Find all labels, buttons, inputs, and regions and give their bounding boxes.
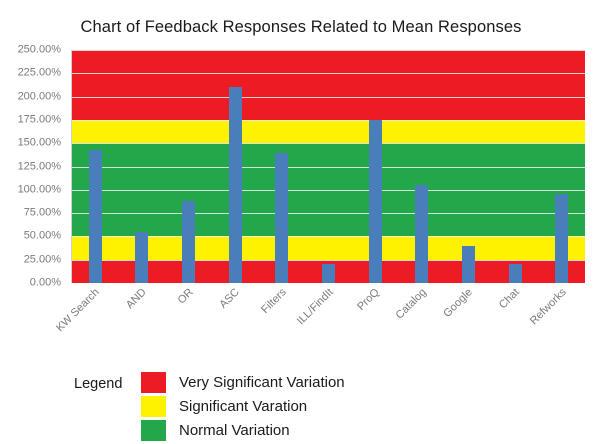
y-axis-tick-label: 125.00% xyxy=(18,161,61,172)
y-axis-tick-label: 75.00% xyxy=(24,208,61,219)
legend-item: Very Significant Variation xyxy=(141,371,345,393)
bar xyxy=(322,264,335,283)
gridline xyxy=(72,73,585,74)
y-axis-tick-label: 250.00% xyxy=(18,45,61,56)
y-axis-tick-label: 25.00% xyxy=(24,254,61,265)
bar xyxy=(462,246,475,283)
x-axis-tick-label: KW Search xyxy=(24,287,102,365)
gridline xyxy=(72,120,585,121)
plot-area xyxy=(71,50,585,283)
y-axis-tick-label: 150.00% xyxy=(18,138,61,149)
bar xyxy=(275,153,288,283)
chart-container: Chart of Feedback Responses Related to M… xyxy=(0,0,602,444)
legend-item-label: Significant Varation xyxy=(179,398,307,415)
legend-color-swatch xyxy=(141,396,166,417)
legend-title: Legend xyxy=(74,376,122,392)
gridline xyxy=(72,213,585,214)
chart-title: Chart of Feedback Responses Related to M… xyxy=(0,18,602,37)
bar xyxy=(89,150,102,283)
legend-item: Normal Variation xyxy=(141,419,290,441)
background-band xyxy=(72,50,585,120)
gridline xyxy=(72,50,585,51)
legend-item-label: Normal Variation xyxy=(179,422,290,439)
gridline xyxy=(72,236,585,237)
bar xyxy=(229,87,242,283)
y-axis-tick-label: 100.00% xyxy=(18,184,61,195)
gridline xyxy=(72,260,585,261)
legend-item: Significant Varation xyxy=(141,395,307,417)
bar xyxy=(509,264,522,283)
bar xyxy=(369,120,382,283)
gridline xyxy=(72,97,585,98)
x-axis: KW SearchANDORASCFiltersILL/FindItProQCa… xyxy=(71,285,584,353)
legend-color-swatch xyxy=(141,420,166,441)
gridline xyxy=(72,190,585,191)
chart-legend: Legend Very Significant VariationSignifi… xyxy=(0,363,602,441)
y-axis-tick-label: 50.00% xyxy=(24,231,61,242)
y-axis-tick-label: 175.00% xyxy=(18,114,61,125)
gridline xyxy=(72,167,585,168)
y-axis-tick-label: 200.00% xyxy=(18,91,61,102)
background-band xyxy=(72,120,585,143)
bar xyxy=(182,201,195,283)
y-axis-tick-label: 0.00% xyxy=(30,278,61,289)
bar xyxy=(555,194,568,283)
bar xyxy=(415,185,428,283)
y-axis: 0.00%25.00%50.00%75.00%100.00%125.00%150… xyxy=(0,50,66,283)
gridline xyxy=(72,143,585,144)
background-band xyxy=(72,236,585,259)
y-axis-tick-label: 225.00% xyxy=(18,68,61,79)
legend-color-swatch xyxy=(141,372,166,393)
bar xyxy=(135,232,148,283)
legend-item-label: Very Significant Variation xyxy=(179,374,345,391)
